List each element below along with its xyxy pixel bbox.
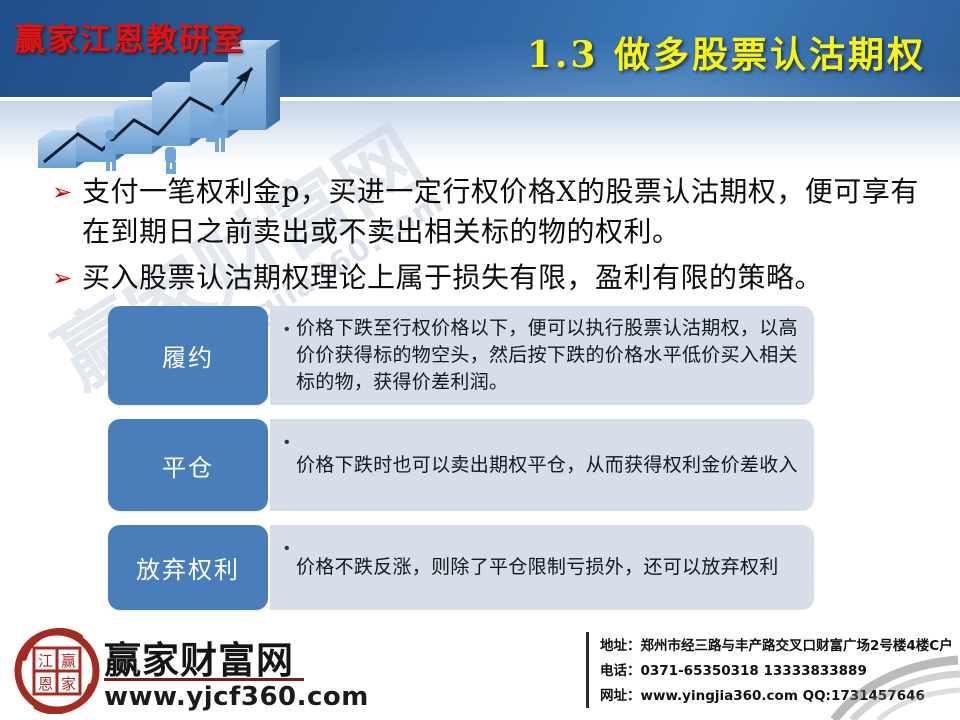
svg-text:江: 江 — [38, 652, 53, 670]
footer: 江 赢 恩 家 赢家财富网 www.yjcf360.com 地址：郑州市经三路与… — [0, 618, 960, 720]
bullet-item: ➢ 买入股票认沽期权理论上属于损失有限，盈利有限的策略。 — [50, 258, 930, 298]
table-row-label: 履约 — [108, 306, 268, 405]
table-row-text: 价格不跌反涨，则除了平仓限制亏损外，还可以放弃权利 — [296, 554, 798, 581]
table-row-body: • 价格不跌反涨，则除了平仓限制亏损外，还可以放弃权利 — [270, 525, 814, 610]
swoosh-decoration-icon — [830, 634, 960, 720]
footer-logo-rule — [104, 678, 304, 681]
slide-root: 赢家江恩教研室 1.3 做多股票认沽期权 — [0, 0, 960, 720]
red-arrow-bullet-icon: ➢ — [50, 172, 82, 212]
table-row-text: 价格下跌至行权价格以下，便可以执行股票认沽期权，以高价价获得标的物空头，然后按下… — [296, 315, 798, 396]
table-row-body: • 价格下跌时也可以卖出期权平仓，从而获得权利金价差收入 — [270, 419, 814, 511]
bullet-dot-icon: • — [284, 541, 296, 557]
table-row: 放弃权利 • 价格不跌反涨，则除了平仓限制亏损外，还可以放弃权利 — [108, 525, 814, 610]
table-row: 履约 • 价格下跌至行权价格以下，便可以执行股票认沽期权，以高价价获得标的物空头… — [108, 306, 814, 405]
table-row-label: 平仓 — [108, 419, 268, 511]
brand-title: 赢家江恩教研室 — [14, 14, 245, 59]
table-row-text: 价格下跌时也可以卖出期权平仓，从而获得权利金价差收入 — [296, 452, 798, 479]
svg-text:家: 家 — [61, 675, 76, 693]
bullet-list: ➢ 支付一笔权利金p，买进一定行权价格X的股票认沽期权，便可享有在到期日之前卖出… — [50, 172, 930, 304]
red-circular-seal-icon: 江 赢 恩 家 — [14, 628, 100, 714]
bullet-dot-icon: • — [284, 322, 296, 338]
svg-text:恩: 恩 — [38, 675, 53, 693]
contact-phone: 电话：0371-65350318 13333833889 — [600, 659, 867, 679]
contact-divider — [586, 632, 589, 708]
strategy-table: 履约 • 价格下跌至行权价格以下，便可以执行股票认沽期权，以高价价获得标的物空头… — [108, 306, 814, 624]
red-arrow-bullet-icon: ➢ — [50, 258, 82, 298]
footer-logo-text: 赢家财富网 — [104, 630, 294, 684]
footer-logo-url[interactable]: www.yjcf360.com — [104, 682, 369, 712]
table-row-body: • 价格下跌至行权价格以下，便可以执行股票认沽期权，以高价价获得标的物空头，然后… — [270, 306, 814, 405]
svg-text:赢: 赢 — [61, 652, 76, 670]
table-row-label: 放弃权利 — [108, 525, 268, 610]
bullet-text: 买入股票认沽期权理论上属于损失有限，盈利有限的策略。 — [82, 258, 930, 298]
page-title: 1.3 做多股票认沽期权 — [527, 26, 926, 78]
bullet-item: ➢ 支付一笔权利金p，买进一定行权价格X的股票认沽期权，便可享有在到期日之前卖出… — [50, 172, 930, 252]
table-row: 平仓 • 价格下跌时也可以卖出期权平仓，从而获得权利金价差收入 — [108, 419, 814, 511]
bullet-dot-icon: • — [284, 435, 296, 451]
bullet-text: 支付一笔权利金p，买进一定行权价格X的股票认沽期权，便可享有在到期日之前卖出或不… — [82, 172, 930, 252]
